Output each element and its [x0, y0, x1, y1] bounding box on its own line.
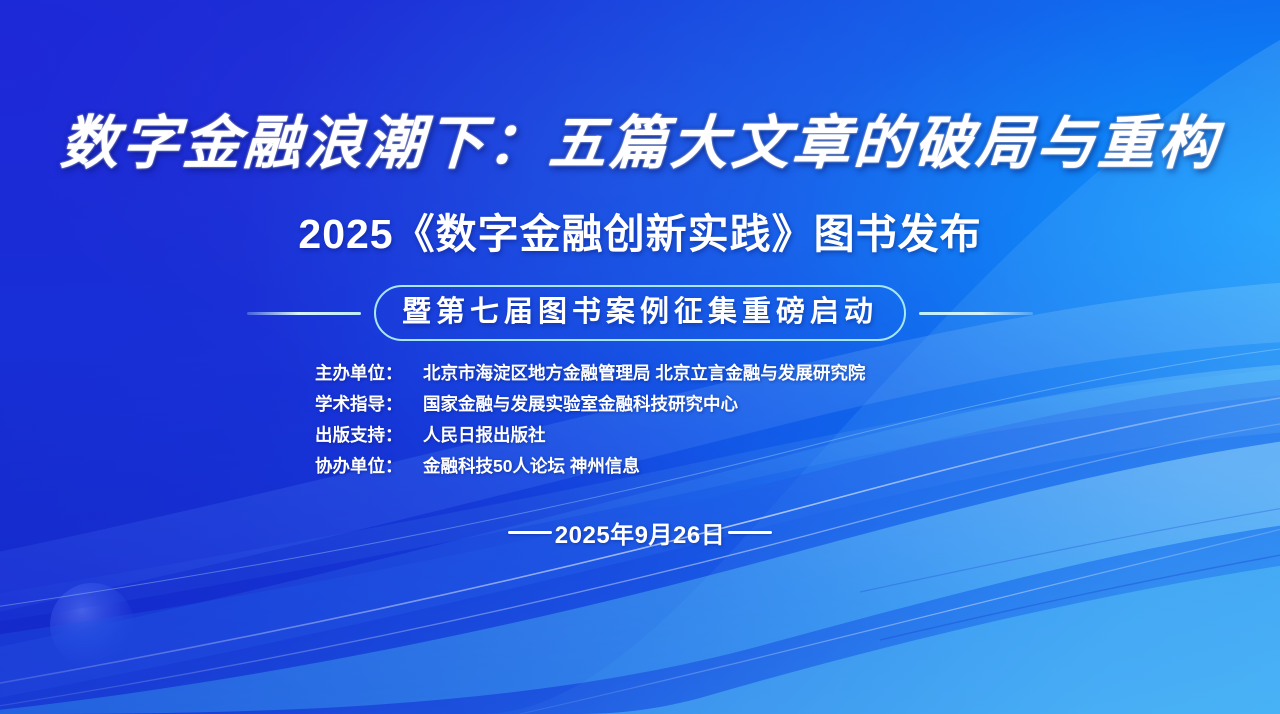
event-date: 2025年9月26日 — [554, 515, 726, 550]
credit-value: 北京市海淀区地方金融管理局 北京立言金融与发展研究院 — [423, 358, 865, 389]
pill-headline: 暨第七届图书案例征集重磅启动 — [374, 285, 906, 341]
page-title: 数字金融浪潮下：五篇大文章的破局与重构 — [0, 106, 1280, 180]
credit-row-organizer: 主办单位： 北京市海淀区地方金融管理局 北京立言金融与发展研究院 — [315, 358, 865, 389]
credit-label: 协办单位： — [315, 451, 423, 482]
credit-row-co-organizer: 协办单位： 金融科技50人论坛 神州信息 — [315, 451, 865, 482]
divider-line-left — [247, 312, 361, 315]
credit-value: 人民日报出版社 — [423, 420, 546, 451]
pill-headline-row: 暨第七届图书案例征集重磅启动 — [0, 285, 1280, 341]
date-dash-right — [728, 531, 772, 534]
credit-row-publishing-support: 出版支持： 人民日报出版社 — [315, 420, 865, 451]
date-dash-left — [508, 531, 552, 534]
banner-subtitle: 2025《数字金融创新实践》图书发布 — [0, 208, 1280, 260]
credits-block: 主办单位： 北京市海淀区地方金融管理局 北京立言金融与发展研究院 学术指导： 国… — [315, 358, 865, 482]
credit-label: 主办单位： — [315, 358, 423, 389]
event-date-row: 2025年9月26日 — [0, 515, 1280, 550]
credit-value: 国家金融与发展实验室金融科技研究中心 — [423, 389, 738, 420]
credit-value: 金融科技50人论坛 神州信息 — [423, 451, 640, 482]
event-banner: 数字金融浪潮下：五篇大文章的破局与重构 2025《数字金融创新实践》图书发布 暨… — [0, 0, 1280, 714]
credit-row-academic-guidance: 学术指导： 国家金融与发展实验室金融科技研究中心 — [315, 389, 865, 420]
banner-content: 数字金融浪潮下：五篇大文章的破局与重构 2025《数字金融创新实践》图书发布 暨… — [0, 0, 1280, 714]
divider-line-right — [919, 312, 1033, 315]
credit-label: 学术指导： — [315, 389, 423, 420]
credit-label: 出版支持： — [315, 420, 423, 451]
